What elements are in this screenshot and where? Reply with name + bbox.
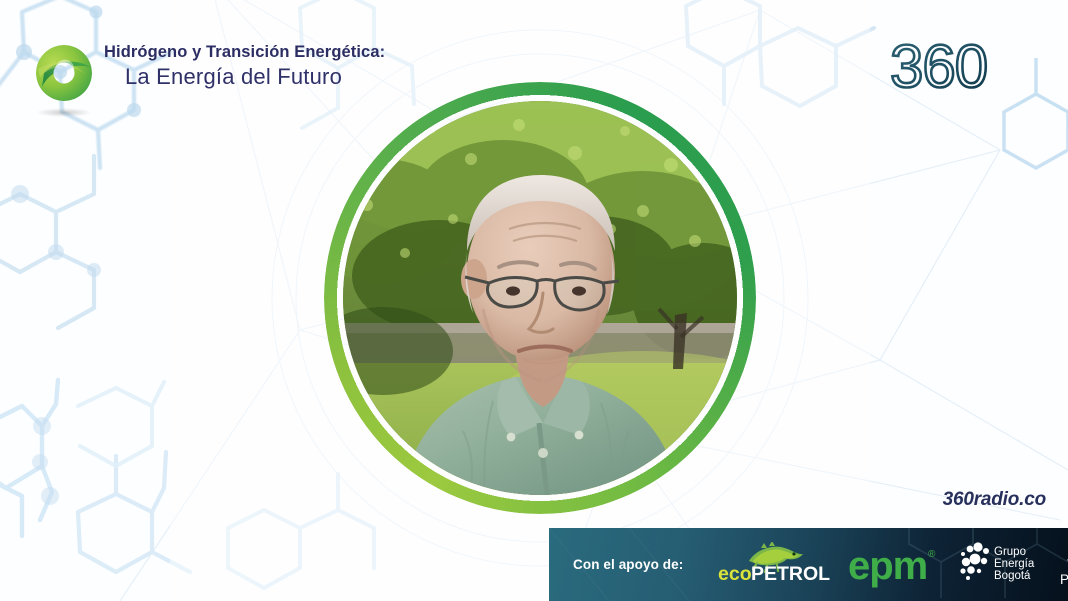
sponsor-logo-grupo-energia-bogota[interactable]: Grupo Energía Bogotá <box>957 542 1047 588</box>
molecule-bottom-left <box>0 380 58 536</box>
molecule-atoms-bottom-left <box>32 417 59 505</box>
site-url-label: 360radio.co <box>943 489 1046 511</box>
geb-line-3: Bogotá <box>994 570 1031 582</box>
guest-portrait <box>324 82 756 514</box>
ecopetrol-petrol-text: PETROL <box>751 563 830 585</box>
epm-registered-mark: ® <box>928 549 936 560</box>
molecule-lower-left-large <box>78 382 164 466</box>
molecule-left-mid <box>0 156 94 328</box>
sponsor-logo-ecopetrol[interactable]: eco PETROL <box>717 542 830 588</box>
sponsor-logo-promigas[interactable]: PROMIGAS <box>1057 542 1068 588</box>
molecule-atoms-left-mid <box>11 185 101 277</box>
geb-line-2: Energía <box>994 558 1035 570</box>
dots-cluster-icon <box>961 542 990 580</box>
logo-shadow <box>36 108 92 117</box>
sponsor-logo-epm[interactable]: epm ® <box>848 541 943 589</box>
hydrogen-ring-logo-icon <box>34 43 94 103</box>
broadcast-lower-third-slate: Hidrógeno y Transición Energética: La En… <box>0 0 1068 601</box>
molecule-bottom-left-2 <box>78 452 190 572</box>
program-title-line-1: Hidrógeno y Transición Energética: <box>104 42 385 62</box>
ecopetrol-eco-text: eco <box>718 563 752 585</box>
promigas-text: PROMIGAS <box>1060 572 1068 587</box>
geb-line-1: Grupo <box>994 546 1026 558</box>
360-network-logo: 360 <box>888 38 1022 100</box>
sponsor-bar: Con el apoyo de: eco PETROL <box>549 528 1068 601</box>
360-text: 360 <box>890 38 987 100</box>
portrait-photo <box>343 101 737 495</box>
epm-wordmark-text: epm <box>848 544 927 588</box>
portrait-illustration <box>343 101 737 495</box>
sponsor-support-label: Con el apoyo de: <box>573 557 683 572</box>
